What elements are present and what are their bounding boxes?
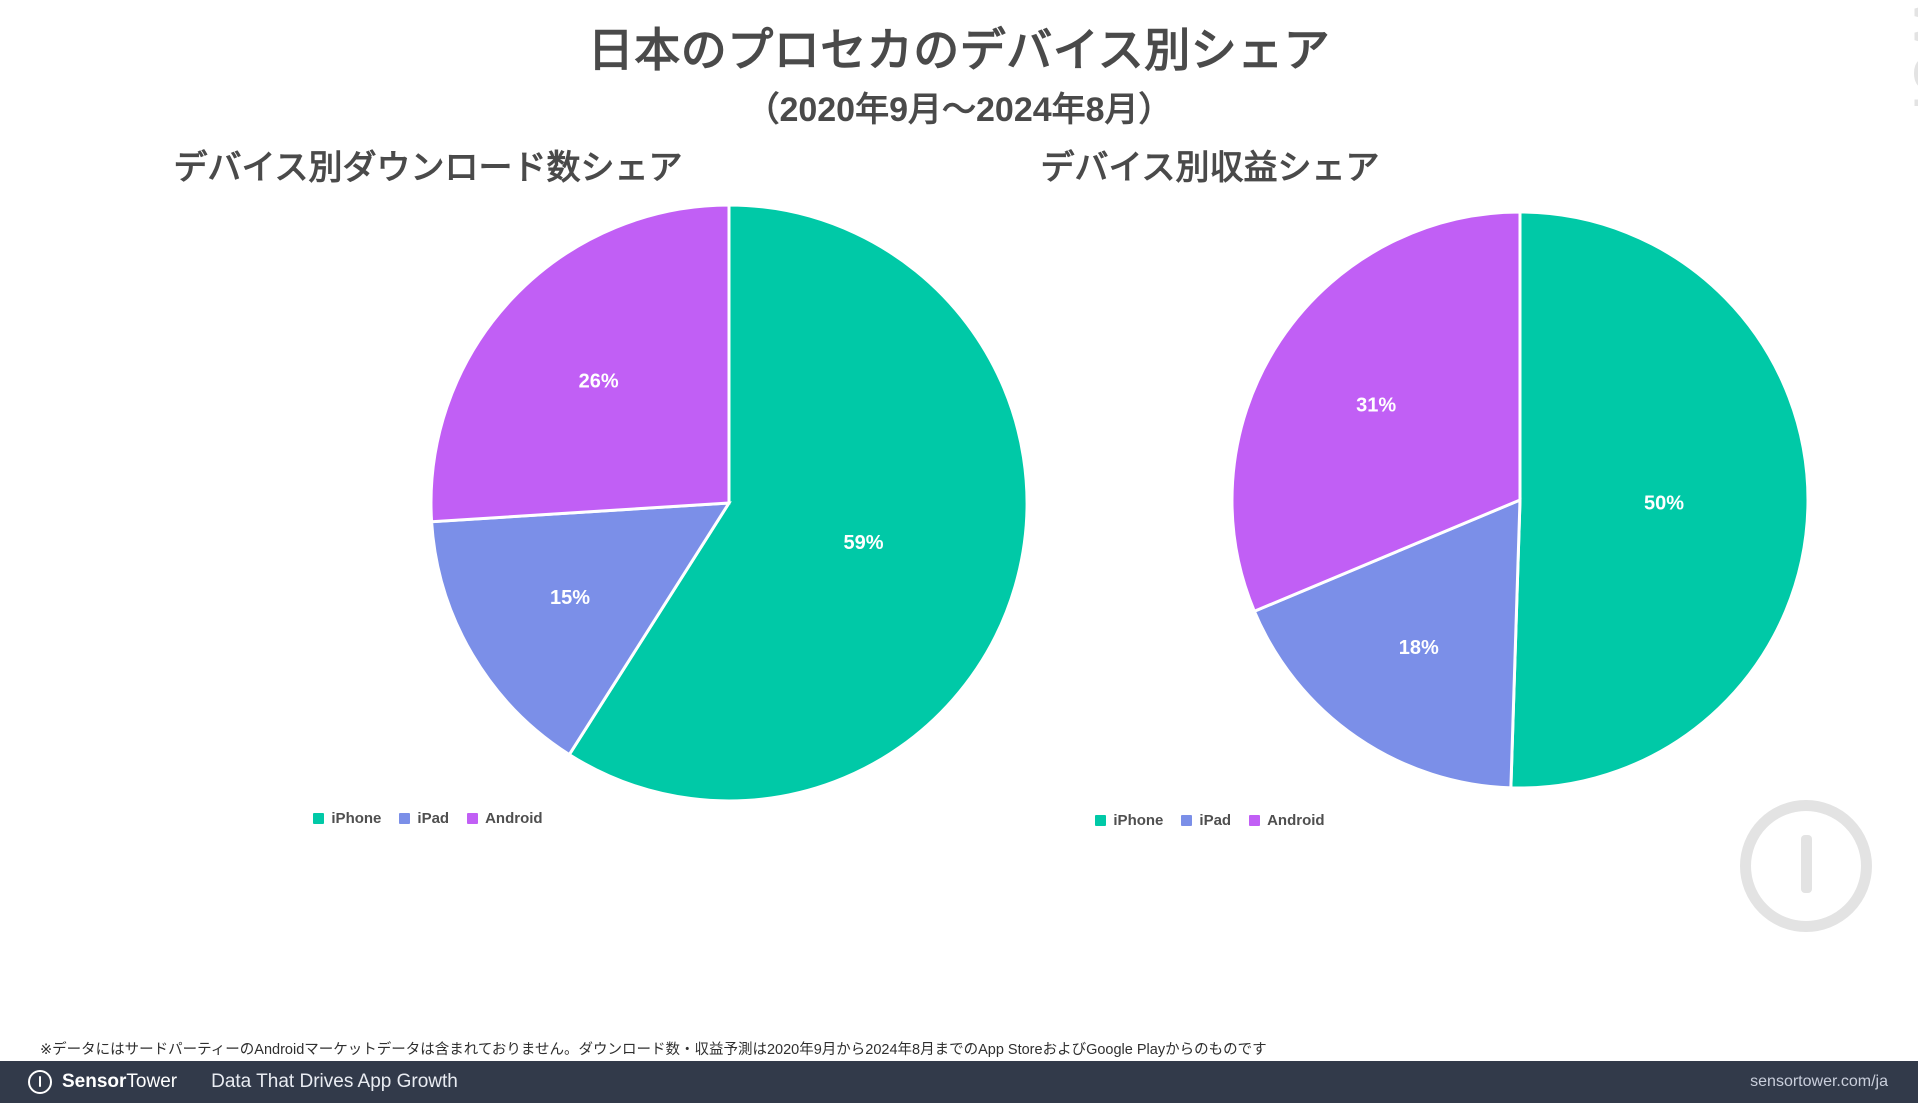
revenue-chart-title: デバイス別収益シェア: [790, 140, 1630, 189]
page-subtitle: （2020年9月〜2024年8月）: [0, 82, 1918, 131]
legend-item-iphone[interactable]: iPhone: [1095, 812, 1163, 829]
data-source-footnote: ※データにはサードパーティーのAndroidマーケットデータは含まれておりません…: [40, 1038, 1267, 1059]
legend-item-android[interactable]: Android: [1249, 812, 1325, 829]
downloads-legend: iPhone iPad Android: [8, 810, 848, 827]
revenue-pie-svg: 50%18%31%: [1230, 210, 1810, 790]
legend-swatch-android: [467, 813, 478, 824]
pie-slice-label-android: 26%: [579, 371, 619, 393]
legend-swatch-ipad: [1181, 815, 1192, 826]
page-title: 日本のプロセカのデバイス別シェア: [0, 14, 1918, 80]
pie-slice-label-ipad: 15%: [550, 587, 590, 609]
footer-url[interactable]: sensortower.com/ja: [1750, 1073, 1888, 1091]
legend-swatch-ipad: [399, 813, 410, 824]
pie-slice-label-iphone: 50%: [1644, 492, 1684, 514]
legend-swatch-android: [1249, 815, 1260, 826]
legend-item-iphone[interactable]: iPhone: [313, 810, 381, 827]
pie-slice-label-ipad: 18%: [1399, 637, 1439, 659]
downloads-share-panel: デバイス別ダウンロード数シェア 59%15%26% iPhone iPad An…: [8, 140, 848, 1020]
revenue-pie-chart: 50%18%31%: [1230, 210, 1810, 790]
legend-item-ipad[interactable]: iPad: [1181, 812, 1231, 829]
sensortower-logo-icon: [28, 1070, 52, 1094]
legend-swatch-iphone: [313, 813, 324, 824]
sensortower-logo-watermark-icon: [1740, 800, 1872, 932]
downloads-chart-title: デバイス別ダウンロード数シェア: [8, 140, 848, 189]
legend-label-ipad: iPad: [1199, 812, 1231, 829]
legend-label-iphone: iPhone: [331, 810, 381, 827]
legend-item-ipad[interactable]: iPad: [399, 810, 449, 827]
legend-label-android: Android: [485, 810, 543, 827]
pie-slice-label-android: 31%: [1356, 394, 1396, 416]
footer-bar: SensorTower Data That Drives App Growth …: [0, 1061, 1918, 1103]
legend-label-ipad: iPad: [417, 810, 449, 827]
legend-swatch-iphone: [1095, 815, 1106, 826]
legend-label-android: Android: [1267, 812, 1325, 829]
footer-brand: SensorTower: [62, 1071, 177, 1093]
legend-label-iphone: iPhone: [1113, 812, 1163, 829]
revenue-share-panel: デバイス別収益シェア 50%18%31% iPhone iPad Android: [790, 140, 1630, 1020]
pie-slice-android[interactable]: [431, 205, 729, 522]
footer-brand-bold: Sensor: [62, 1071, 126, 1092]
footer-brand-light: Tower: [126, 1071, 177, 1092]
footer-tagline: Data That Drives App Growth: [211, 1071, 458, 1093]
legend-item-android[interactable]: Android: [467, 810, 543, 827]
revenue-legend: iPhone iPad Android: [790, 812, 1630, 829]
